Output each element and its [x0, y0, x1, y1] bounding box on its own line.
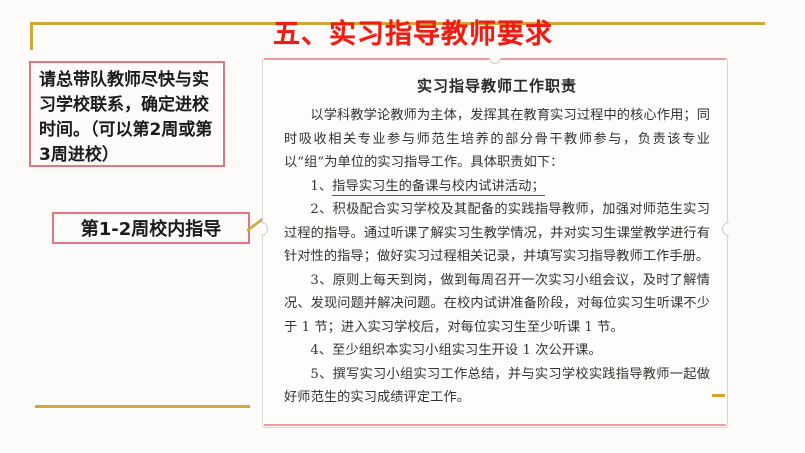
callout-box-week-1-2: 第1-2周校内指导: [52, 212, 250, 244]
item-5-text: 撰写实习小组实习工作总结，并与实习学校实践指导教师一起做好师范生的实习成绩评定工…: [284, 367, 710, 406]
document-item-2: 2、积极配合实习学校及其配备的实践指导教师，加强对师范生实习过程的指导。通过听课…: [284, 198, 710, 269]
item-2-number: 2、: [310, 202, 332, 217]
document-bottom-accent-line: [264, 424, 726, 426]
document-item-1: 1、指导实习生的备课与校内试讲活动；: [284, 175, 710, 199]
item-1-text: 指导实习生的备课与校内试讲活动；: [332, 179, 545, 196]
document-intro-paragraph: 以学科教学论教师为主体，发挥其在教育实习过程中的核心作用；同时吸收相关专业参与师…: [284, 104, 710, 175]
document-gold-mark: [712, 394, 725, 397]
document-content: 实习指导教师工作职责 以学科教学论教师为主体，发挥其在教育实习过程中的核心作用；…: [284, 66, 710, 418]
page-title: 五、实习指导教师要求: [248, 12, 578, 51]
document-right-notch: [722, 222, 729, 236]
gold-frame-left-line: [30, 22, 33, 50]
slide-canvas: 五、实习指导教师要求 请总带队教师尽快与实习学校联系，确定进校时间。（可以第2周…: [0, 0, 805, 453]
item-5-number: 5、: [310, 367, 332, 382]
callout-box-contact-school: 请总带队教师尽快与实习学校联系，确定进校时间。（可以第2周或第3周进校）: [29, 61, 225, 167]
item-3-number: 3、: [310, 273, 332, 288]
item-1-number: 1、: [310, 179, 332, 194]
document-item-3: 3、原则上每天到岗，做到每周召开一次实习小组会议，及时了解情况、发现问题并解决问…: [284, 269, 710, 340]
item-4-number: 4、: [310, 343, 332, 358]
item-3-text: 原则上每天到岗，做到每周召开一次实习小组会议，及时了解情况、发现问题并解决问题。…: [284, 273, 710, 335]
callout-text-contact-school: 请总带队教师尽快与实习学校联系，确定进校时间。（可以第2周或第3周进校）: [39, 68, 218, 168]
gold-frame-bottom-line: [35, 405, 250, 408]
document-title: 实习指导教师工作职责: [284, 75, 710, 96]
document-item-5: 5、撰写实习小组实习工作总结，并与实习学校实践指导教师一起做好师范生的实习成绩评…: [284, 363, 710, 410]
callout-text-week-1-2: 第1-2周校内指导: [81, 215, 222, 241]
item-4-text: 至少组织本实习小组实习生开设 1 次公开课。: [332, 343, 602, 358]
item-2-text: 积极配合实习学校及其配备的实践指导教师，加强对师范生实习过程的指导。通过听课了解…: [284, 202, 710, 264]
document-item-4: 4、至少组织本实习小组实习生开设 1 次公开课。: [284, 339, 710, 363]
